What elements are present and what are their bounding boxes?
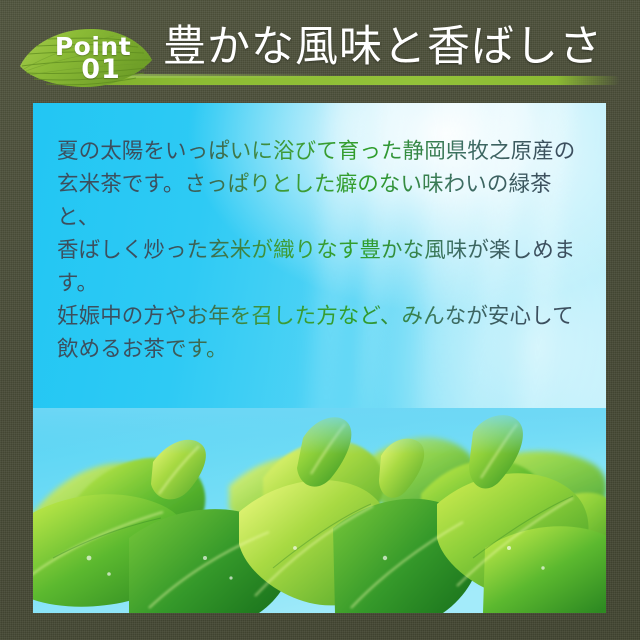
tea-leaves-photo (33, 408, 606, 613)
content-panel: 夏の太陽をいっぱいに浴びて育った静岡県牧之原産の 玄米茶です。さっぱりとした癖の… (33, 103, 606, 613)
body-line: 夏の太陽をいっぱいに浴びて育った静岡県牧之原産の (57, 139, 575, 163)
body-paragraph: 夏の太陽をいっぱいに浴びて育った静岡県牧之原産の 玄米茶です。さっぱりとした癖の… (57, 135, 587, 366)
title-underline-rule (92, 76, 620, 85)
body-line: 飲めるお茶です。 (57, 337, 228, 361)
tea-leaves-artwork (33, 408, 606, 613)
badge-text-group: Point 01 (18, 26, 154, 90)
body-line: 妊娠中の方やお年を召した方など、みんなが安心して (57, 304, 574, 328)
page-title: 豊かな風味と香ばしさ (163, 21, 603, 75)
body-line: 香ばしく炒った玄米が織りなす豊かな風味が楽しめます。 (57, 238, 575, 295)
body-line: 玄米茶です。さっぱりとした癖のない味わいの緑茶と、 (57, 172, 552, 229)
header: Point 01 豊かな風味と香ばしさ (0, 0, 640, 103)
point-leaf-badge: Point 01 (18, 26, 154, 90)
poster-root: Point 01 豊かな風味と香ばしさ 夏の太陽をいっぱいに浴びて育った静岡県牧… (0, 0, 640, 640)
badge-number-label: 01 (81, 56, 121, 83)
